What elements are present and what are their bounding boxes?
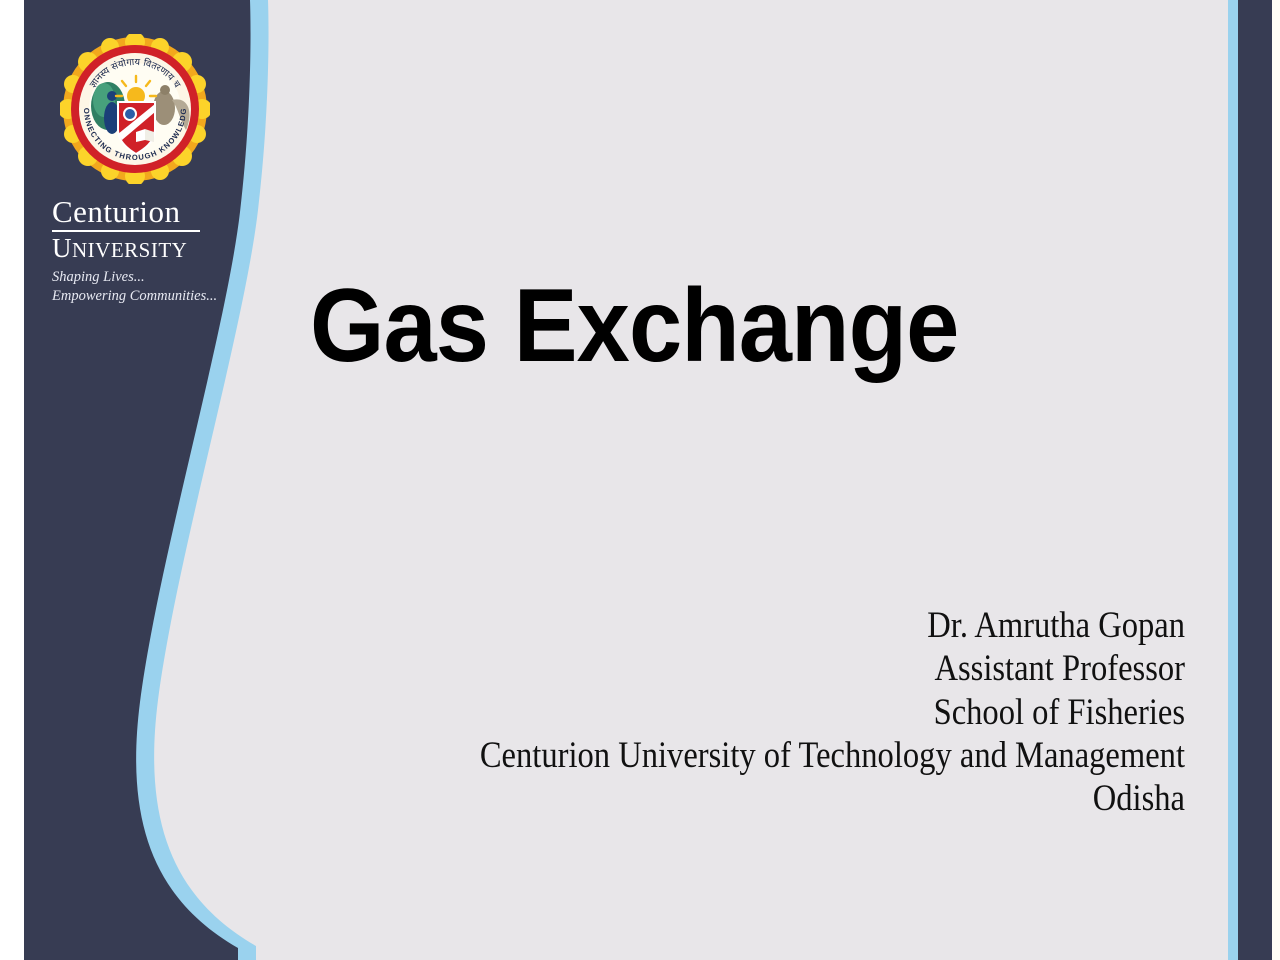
right-navy-band (1238, 0, 1272, 960)
university-seal-icon: ज्ञानस्य संयोगाय वितरणाय च CONNECTING TH… (60, 34, 210, 184)
wordmark-tagline: Shaping Lives... Empowering Communities.… (52, 268, 242, 305)
right-blue-stripe (1228, 0, 1238, 960)
slide-title: Gas Exchange (310, 272, 954, 381)
author-line: Odisha (301, 777, 1185, 820)
wordmark-university: UNIVERSITY (52, 234, 242, 262)
right-cream-edge (1272, 0, 1280, 960)
author-line: School of Fisheries (301, 691, 1185, 734)
author-line: Centurion University of Technology and M… (301, 734, 1185, 777)
author-affiliation-block: Dr. Amrutha Gopan Assistant Professor Sc… (180, 604, 1185, 820)
presentation-slide: ज्ञानस्य संयोगाय वितरणाय च CONNECTING TH… (0, 0, 1280, 960)
university-wordmark: Centurion UNIVERSITY Shaping Lives... Em… (52, 196, 242, 305)
author-line: Assistant Professor (301, 647, 1185, 690)
author-line: Dr. Amrutha Gopan (301, 604, 1185, 647)
tagline-line-1: Shaping Lives... (52, 269, 145, 285)
university-logo: ज्ञानस्य संयोगाय वितरणाय च CONNECTING TH… (52, 34, 242, 305)
wordmark-centurion: Centurion (52, 196, 200, 232)
wordmark-university-rest: NIVERSITY (72, 238, 187, 262)
wordmark-university-initial: U (52, 233, 72, 263)
tagline-line-2: Empowering Communities... (52, 288, 217, 304)
